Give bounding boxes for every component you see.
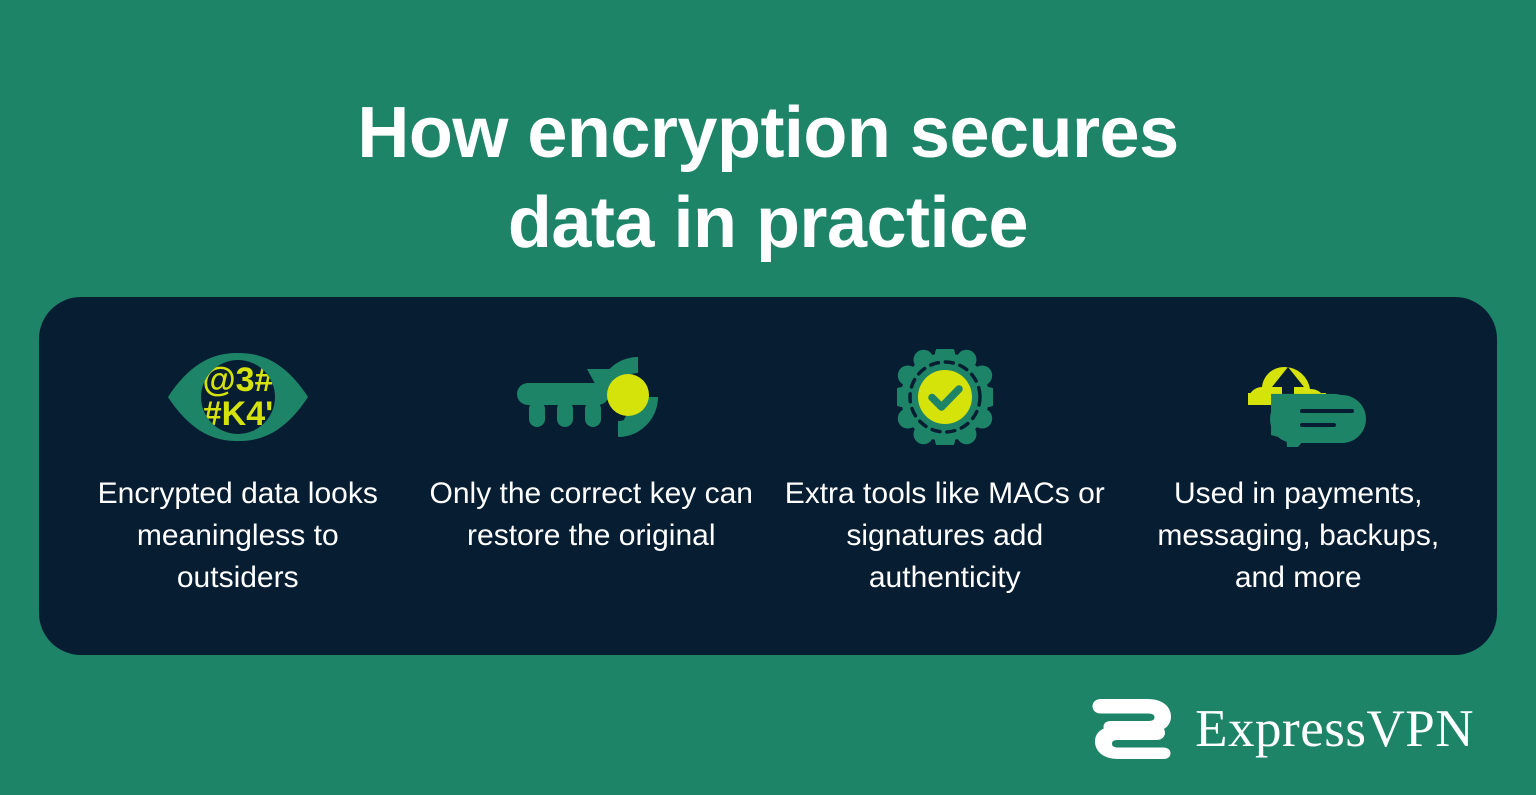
expressvpn-logo-text: ExpressVPN: [1195, 703, 1474, 756]
column-correct-key: Only the correct key can restore the ori…: [415, 345, 769, 557]
page-title: How encryption secures data in practice: [0, 88, 1536, 268]
column-text: Extra tools like MACs or signatures add …: [780, 473, 1110, 599]
column-authenticity: Extra tools like MACs or signatures add …: [768, 345, 1122, 599]
infographic-poster: How encryption secures data in practice …: [0, 0, 1536, 795]
encrypted-eye-icon: @3# #K4': [164, 345, 312, 449]
column-encrypted-data: @3# #K4' Encrypted data looks meaningles…: [61, 345, 415, 599]
column-text: Only the correct key can restore the ori…: [426, 473, 756, 557]
column-text: Encrypted data looks meaningless to outs…: [73, 473, 403, 599]
content-card: @3# #K4' Encrypted data looks meaningles…: [39, 297, 1497, 655]
column-use-cases: Used in payments, messaging, backups, an…: [1122, 345, 1476, 599]
expressvpn-logo-mark: [1091, 697, 1177, 761]
expressvpn-logo: ExpressVPN: [1091, 697, 1474, 761]
cloud-upload-chat-icon: [1230, 345, 1366, 449]
verified-badge-icon: [897, 345, 993, 449]
column-text: Used in payments, messaging, backups, an…: [1133, 473, 1463, 599]
key-restore-icon: [515, 345, 667, 449]
